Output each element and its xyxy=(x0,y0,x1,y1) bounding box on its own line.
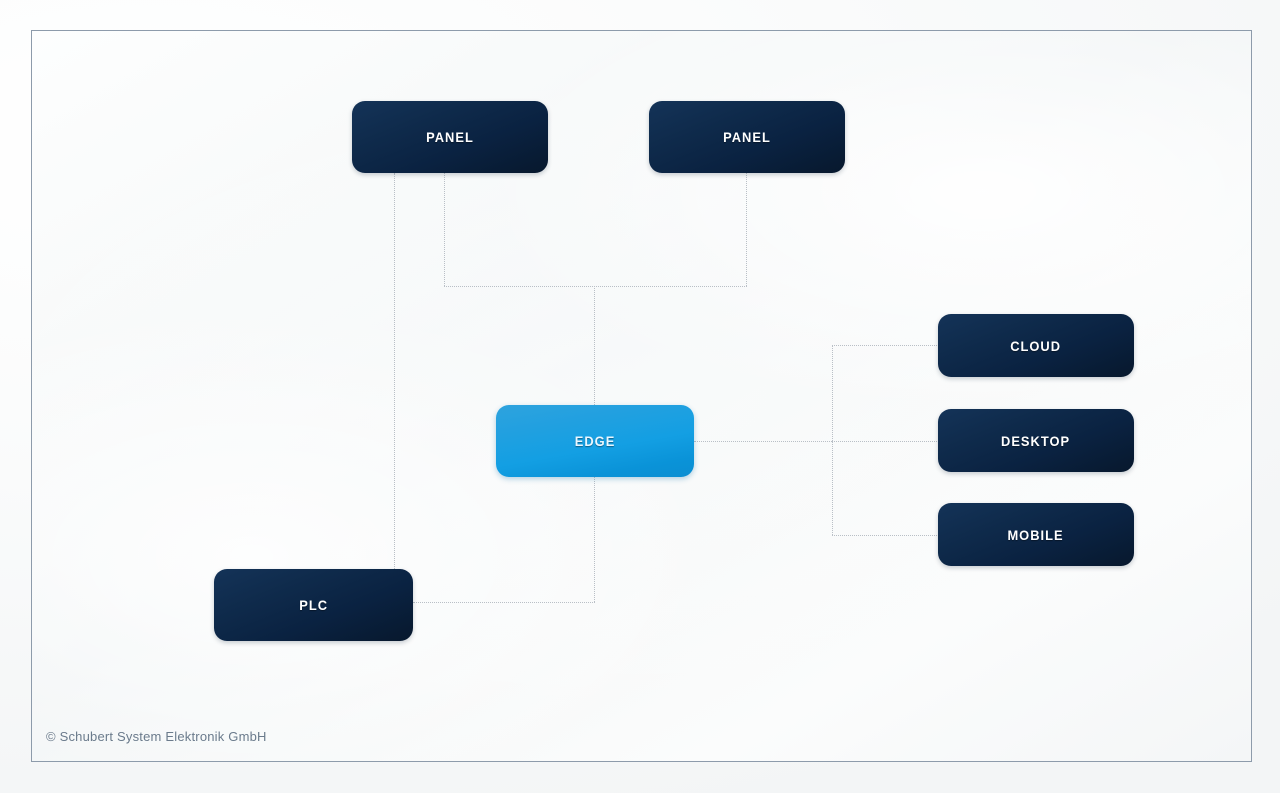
node-panel-2-label: PANEL xyxy=(723,129,771,145)
connector-edge-to-plc-vertical xyxy=(594,477,595,602)
node-cloud[interactable]: CLOUD xyxy=(938,314,1134,377)
connector-panel-bus-horizontal xyxy=(444,286,747,287)
node-desktop[interactable]: DESKTOP xyxy=(938,409,1134,472)
connector-panel1-to-plc-vertical xyxy=(394,173,395,569)
connector-edge-to-plc-horizontal xyxy=(413,602,595,603)
connector-trunk-to-cloud-horizontal xyxy=(832,345,939,346)
node-desktop-label: DESKTOP xyxy=(1001,433,1070,449)
connector-trunk-to-desktop-horizontal xyxy=(832,441,939,442)
node-plc[interactable]: PLC xyxy=(214,569,413,641)
copyright-footer: © Schubert System Elektronik GmbH xyxy=(46,729,267,744)
node-panel-2[interactable]: PANEL xyxy=(649,101,845,173)
connector-bus-to-edge-vertical xyxy=(594,286,595,405)
architecture-diagram: PANEL PANEL EDGE PLC CLOUD DESKTOP MOBIL… xyxy=(32,31,1252,762)
connector-panel2-to-bus-vertical xyxy=(746,173,747,286)
node-mobile[interactable]: MOBILE xyxy=(938,503,1134,566)
connector-panel1-to-bus-vertical xyxy=(444,173,445,286)
page-background: PANEL PANEL EDGE PLC CLOUD DESKTOP MOBIL… xyxy=(0,0,1280,793)
node-plc-label: PLC xyxy=(299,597,328,613)
node-edge-label: EDGE xyxy=(575,433,616,449)
connector-right-trunk-vertical xyxy=(832,345,833,535)
slide-canvas: PANEL PANEL EDGE PLC CLOUD DESKTOP MOBIL… xyxy=(31,30,1252,762)
node-cloud-label: CLOUD xyxy=(1011,338,1062,354)
node-panel-1-label: PANEL xyxy=(426,129,474,145)
node-panel-1[interactable]: PANEL xyxy=(352,101,548,173)
connector-edge-to-trunk-horizontal xyxy=(694,441,832,442)
node-edge[interactable]: EDGE xyxy=(496,405,694,477)
connector-trunk-to-mobile-horizontal xyxy=(832,535,939,536)
node-mobile-label: MOBILE xyxy=(1008,527,1064,543)
